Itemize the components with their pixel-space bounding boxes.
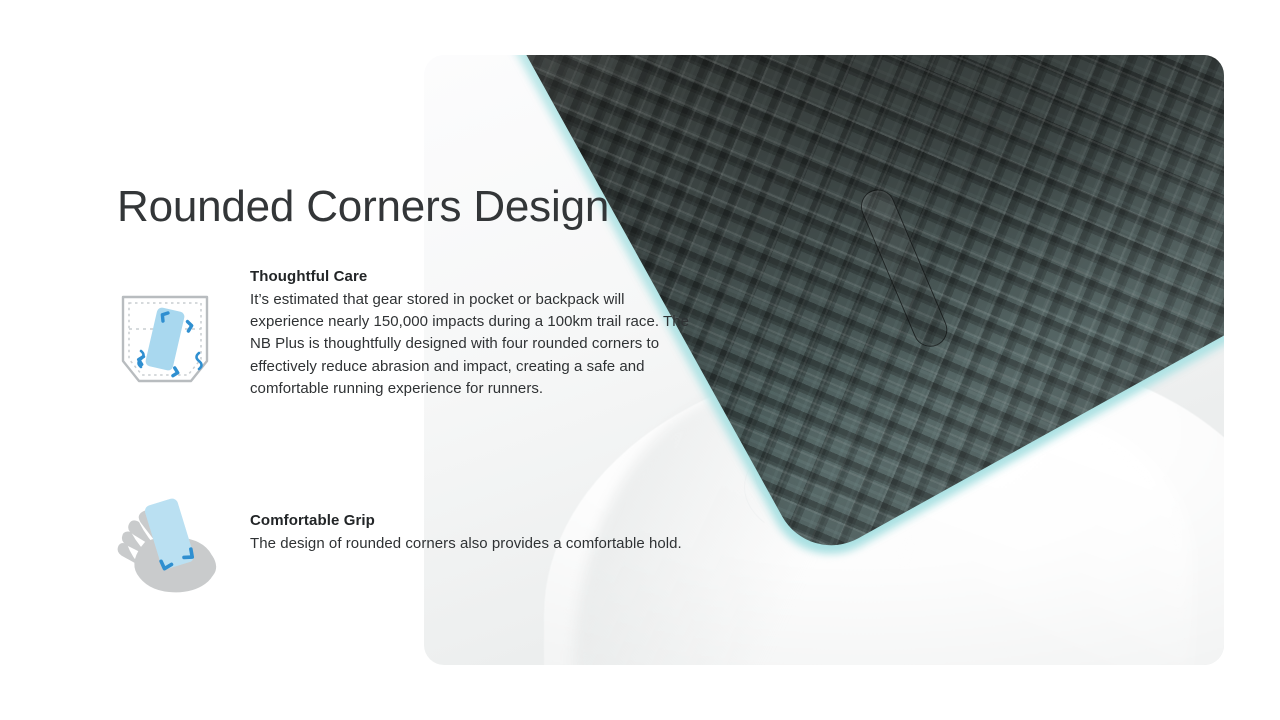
feature-title: Comfortable Grip bbox=[250, 512, 690, 529]
feature-body: Comfortable Grip The design of rounded c… bbox=[250, 512, 690, 555]
pocket-with-device-icon bbox=[115, 291, 215, 392]
page-title: Rounded Corners Design bbox=[117, 183, 609, 231]
slide-root: Rounded Corners Design bbox=[0, 0, 1280, 720]
feature-body: Thoughtful Care It’s estimated that gear… bbox=[250, 268, 690, 400]
feature-text: It’s estimated that gear stored in pocke… bbox=[250, 289, 690, 400]
hand-holding-device-icon bbox=[115, 498, 223, 599]
feature-text: The design of rounded corners also provi… bbox=[250, 533, 690, 555]
feature-title: Thoughtful Care bbox=[250, 268, 690, 285]
